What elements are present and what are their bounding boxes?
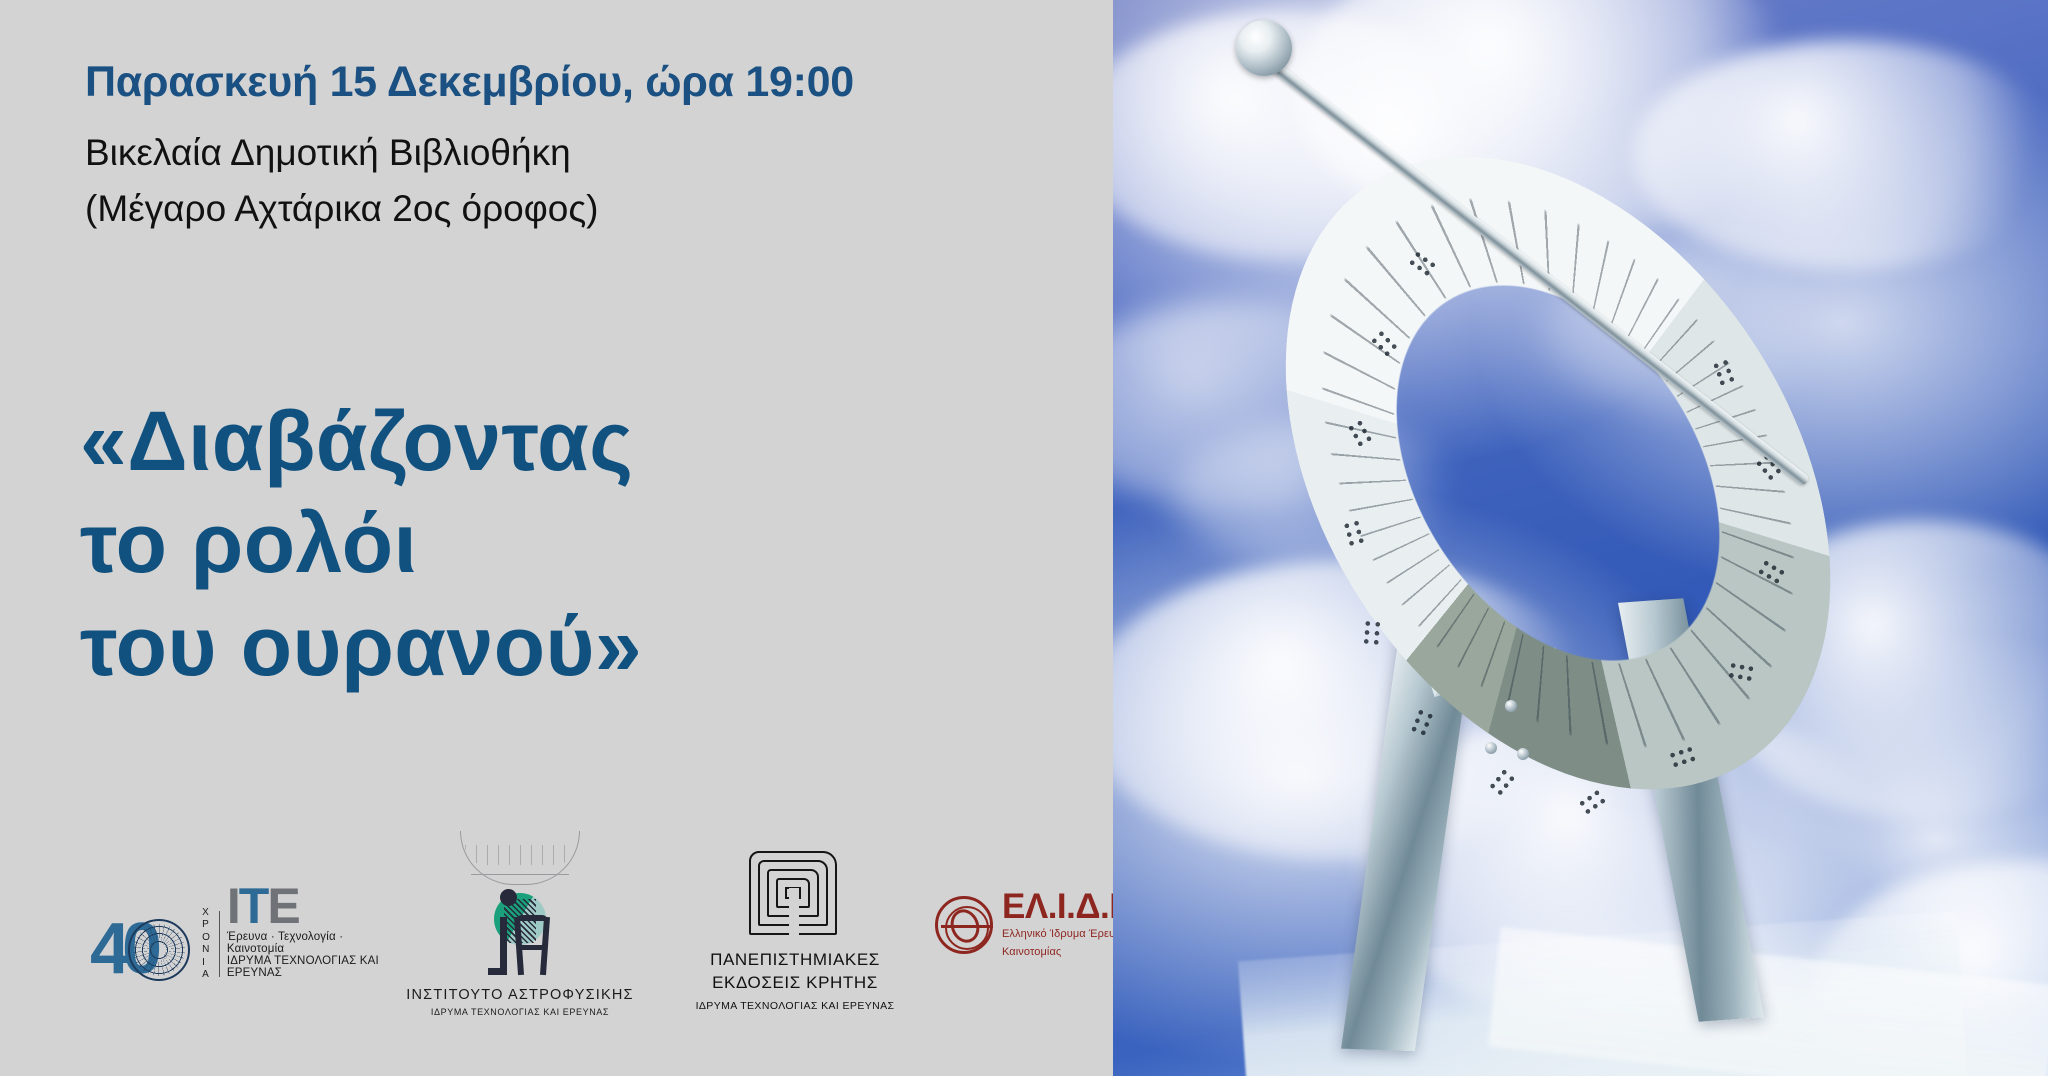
phaistos-disc-icon (128, 919, 190, 981)
venue-line-1: Βικελαία Δημοτική Βιβλιοθήκη (85, 125, 598, 181)
sundial-sculpture (1113, 0, 2048, 1076)
letter-i: Ι (202, 957, 211, 970)
letter-o: Ο (202, 932, 211, 945)
text-panel: Παρασκευή 15 Δεκεμβρίου, ώρα 19:00 Βικελ… (0, 0, 1113, 1076)
letter-n: Ν (202, 944, 211, 957)
logo-institute-of-astrophysics: ΙΝΣΤΙΤΟΥΤΟ ΑΣΤΡΟΦΥΣΙΚΗΣ ΙΔΡΥΜΑ ΤΕΧΝΟΛΟΓΙ… (400, 831, 640, 1021)
cup-name-line-2: ΕΚΔΟΣΕΙΣ ΚΡΗΤΗΣ (680, 972, 910, 995)
page-title: «Διαβάζοντας το ρολόι του ουρανού» (80, 390, 642, 697)
forth-anniversary-mark: 40 (90, 919, 190, 981)
venue-line-2: (Μέγαρο Αχτάρικα 2ος όροφος) (85, 181, 598, 237)
cup-parent: ΙΔΡΥΜΑ ΤΕΧΝΟΛΟΓΙΑΣ ΚΑΙ ΕΡΕΥΝΑΣ (680, 1000, 910, 1012)
antikythera-arc-icon (460, 831, 580, 885)
sundial-ring-ticks (1173, 56, 1943, 891)
venue-block: Βικελαία Δημοτική Βιβλιοθήκη (Μέγαρο Αχτ… (85, 125, 598, 236)
cup-name-line-1: ΠΑΝΕΠΙΣΤΗΜΙΑΚΕΣ (680, 949, 910, 972)
ite-acronym-mark: ITE (227, 885, 380, 928)
title-line-3: του ουρανού» (80, 595, 642, 697)
labyrinth-icon (749, 851, 841, 939)
sponsor-logo-strip: 40 Χ Ρ Ο Ν Ι Α ITE Έρευνα · Τεχνολογία ·… (70, 821, 1080, 1021)
letter-r: Ρ (202, 919, 211, 932)
letter-x: Χ (202, 907, 211, 920)
logo-crete-university-press: ΠΑΝΕΠΙΣΤΗΜΙΑΚΕΣ ΕΚΔΟΣΕΙΣ ΚΡΗΤΗΣ ΙΔΡΥΜΑ Τ… (680, 851, 910, 1011)
title-line-1: «Διαβάζοντας (80, 390, 642, 492)
anniversary-word-vertical: Χ Ρ Ο Ν Ι Α (202, 911, 220, 977)
ia-monogram-icon (474, 891, 566, 979)
sundial-gnomon-sphere (1236, 20, 1292, 76)
astrophysics-name: ΙΝΣΤΙΤΟΥΤΟ ΑΣΤΡΟΦΥΣΙΚΗΣ (400, 987, 640, 1003)
forth-tagline: Έρευνα · Τεχνολογία · Καινοτομία (227, 931, 380, 955)
forth-full-name: ΙΔΡΥΜΑ ΤΕΧΝΟΛΟΓΙΑΣ ΚΑΙ ΕΡΕΥΝΑΣ (227, 955, 380, 979)
logo-forth-ite: 40 Χ Ρ Ο Ν Ι Α ITE Έρευνα · Τεχνολογία ·… (90, 901, 380, 1011)
sundial-photograph (1113, 0, 2048, 1076)
title-line-2: το ρολόι (80, 492, 642, 594)
letter-a: Α (202, 969, 211, 982)
astrophysics-parent: ΙΔΡΥΜΑ ΤΕΧΝΟΛΟΓΙΑΣ ΚΑΙ ΕΡΕΥΝΑΣ (400, 1007, 640, 1017)
elidek-emblem-icon (935, 896, 993, 954)
poster-root: Παρασκευή 15 Δεκεμβρίου, ώρα 19:00 Βικελ… (0, 0, 2048, 1076)
event-date-time: Παρασκευή 15 Δεκεμβρίου, ώρα 19:00 (85, 58, 854, 107)
